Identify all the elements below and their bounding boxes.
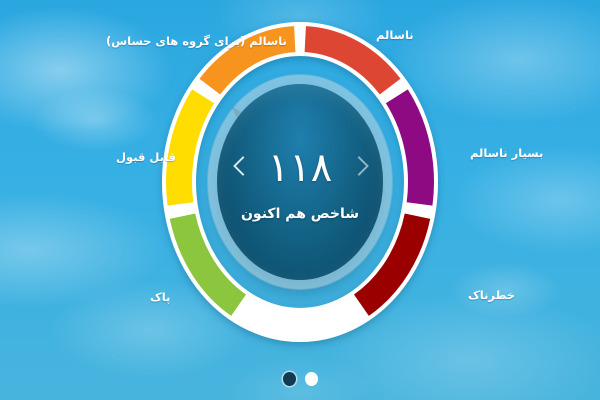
chevron-left-icon[interactable] — [233, 154, 249, 182]
gauge-segment-unhealthy — [305, 39, 390, 86]
gauge-segment-very-unhealthy — [397, 96, 421, 204]
segment-label-hazardous: خطرناک — [468, 288, 515, 302]
pagination-dot-1[interactable] — [305, 372, 318, 386]
value-row: ۱۱۸ — [217, 148, 383, 188]
segment-label-sensitive: ناسالم (برای گروه های حساس) — [106, 34, 287, 48]
chevron-right-icon[interactable] — [351, 154, 367, 182]
gauge-dial: ۱۱۸ شاخص هم اکنون — [217, 84, 383, 280]
aqi-value: ۱۱۸ — [263, 148, 337, 188]
aqi-gauge: ۱۱۸ شاخص هم اکنون — [168, 28, 432, 336]
air-quality-widget: ۱۱۸ شاخص هم اکنون پاکقابل قبولناسالم (بر… — [0, 0, 600, 400]
segment-label-very-unhealthy: بسیار ناسالم — [470, 146, 543, 160]
gauge-caption: شاخص هم اکنون — [241, 206, 359, 222]
segment-label-moderate: قابل قبول — [116, 150, 176, 164]
pagination-dots[interactable] — [0, 372, 600, 386]
gauge-segment-moderate — [179, 96, 203, 204]
segment-label-good: پاک — [150, 290, 170, 304]
pagination-dot-2[interactable] — [283, 372, 296, 386]
segment-label-unhealthy: ناسالم — [376, 28, 414, 42]
